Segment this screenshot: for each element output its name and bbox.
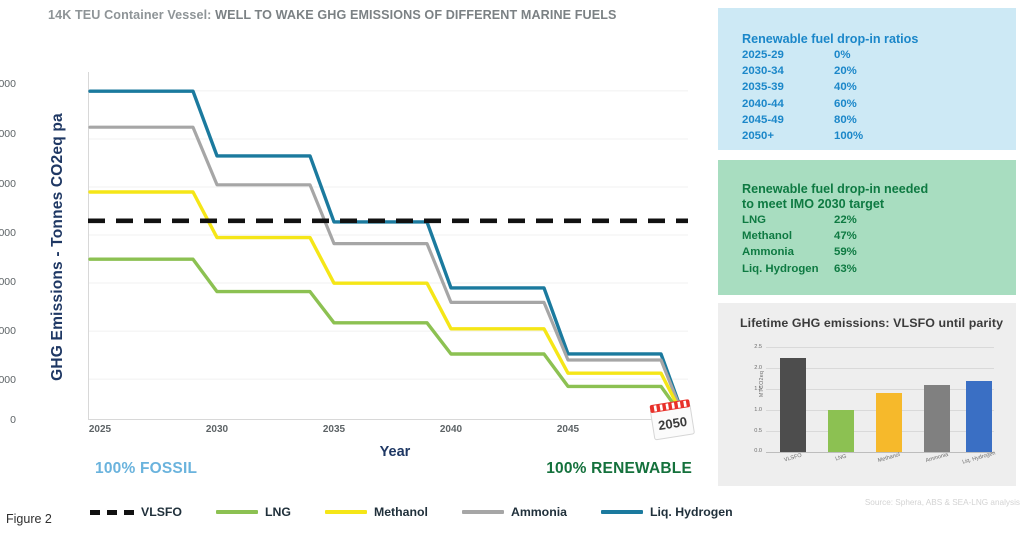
chart-title-prefix: 14K TEU Container Vessel: (48, 8, 215, 22)
legend-item-vlsfo[interactable]: VLSFO (90, 505, 182, 519)
chart-legend: VLSFO LNG Methanol Ammonia Liq. Hydrogen (90, 500, 700, 524)
bar-y-tick-2_0: 2.0 (736, 365, 762, 371)
ratios-value-1: 20% (834, 63, 1016, 79)
target-value-2: 59% (834, 244, 1016, 260)
bar-lng[interactable] (828, 410, 854, 452)
series-liq-hydrogen (90, 91, 685, 420)
plot-area (88, 72, 688, 420)
bar-y-tick-0_0: 0.0 (736, 448, 762, 454)
bar-y-tick-2_5: 2.5 (736, 344, 762, 350)
target-value-0: 22% (834, 212, 1016, 228)
series-ammonia (90, 127, 685, 420)
legend-label-lng: LNG (265, 505, 291, 519)
x-axis-title: Year (340, 444, 450, 460)
legend-swatch-lng-icon (216, 510, 258, 514)
chart-title: 14K TEU Container Vessel: WELL TO WAKE G… (48, 8, 688, 22)
ratios-key-1: 2030-34 (742, 63, 834, 79)
figure-root: 14K TEU Container Vessel: WELL TO WAKE G… (0, 0, 1024, 536)
table-row: Ammonia 59% (742, 244, 1016, 260)
bar-methanol[interactable] (876, 393, 902, 452)
legend-swatch-vlsfo-icon (90, 510, 134, 515)
target-value-3: 63% (834, 261, 1016, 277)
legend-swatch-methanol-icon (325, 510, 367, 514)
x-tick-2040: 2040 (416, 424, 486, 435)
ratios-key-5: 2050+ (742, 128, 834, 144)
bar-liq-hydrogen[interactable] (966, 381, 992, 452)
target-key-2: Ammonia (742, 244, 834, 260)
side-panels: Renewable fuel drop-in ratios 2025-29 0%… (710, 0, 1024, 536)
table-row: 2025-29 0% (742, 47, 1016, 63)
y-tick-0: 0 (0, 414, 16, 426)
ratios-value-3: 60% (834, 96, 1016, 112)
y-tick-140000: 140,000 (0, 78, 16, 90)
figure-label: Figure 2 (6, 512, 52, 526)
target-value-1: 47% (834, 228, 1016, 244)
y-axis-title: GHG Emissions - Tonnes CO2eq pa (49, 97, 67, 397)
plot-svg (88, 72, 688, 420)
card-drop-in-needed-imo-2030: Renewable fuel drop-in needed to meet IM… (718, 160, 1016, 295)
table-row: Liq. Hydrogen 63% (742, 261, 1016, 277)
target-key-3: Liq. Hydrogen (742, 261, 834, 277)
gridlines (88, 91, 688, 379)
y-tick-100000: 100,000 (0, 178, 16, 190)
main-chart-panel: 14K TEU Container Vessel: WELL TO WAKE G… (0, 0, 710, 536)
bar-y-tick-1_5: 1.5 (736, 386, 762, 392)
y-tick-40000: 40,000 (0, 325, 16, 337)
legend-swatch-liq-hydrogen-icon (601, 510, 643, 514)
y-tick-20000: 20,000 (0, 374, 16, 386)
table-row: 2045-49 80% (742, 112, 1016, 128)
calendar-2050-icon: 2050 (648, 398, 695, 441)
renewable-annotation: 100% RENEWABLE (546, 460, 692, 478)
target-heading-line1: Renewable fuel drop-in needed (742, 182, 1016, 197)
x-tick-2025: 2025 (65, 424, 135, 435)
x-tick-2035: 2035 (299, 424, 369, 435)
x-tick-2045: 2045 (533, 424, 603, 435)
legend-label-methanol: Methanol (374, 505, 428, 519)
ratios-key-2: 2035-39 (742, 79, 834, 95)
ratios-table: 2025-29 0% 2030-34 20% 2035-39 40% 204 (742, 47, 1016, 144)
table-row: 2050+ 100% (742, 128, 1016, 144)
bar-ammonia[interactable] (924, 385, 950, 452)
legend-item-ammonia[interactable]: Ammonia (462, 505, 567, 519)
ratios-value-2: 40% (834, 79, 1016, 95)
chart-title-main: WELL TO WAKE GHG EMISSIONS OF DIFFERENT … (215, 8, 616, 22)
table-row: LNG 22% (742, 212, 1016, 228)
table-row: 2035-39 40% (742, 79, 1016, 95)
ratios-heading: Renewable fuel drop-in ratios (742, 32, 1016, 47)
x-tick-2030: 2030 (182, 424, 252, 435)
bar-y-tick-0_5: 0.5 (736, 428, 762, 434)
ratios-key-4: 2045-49 (742, 112, 834, 128)
legend-item-methanol[interactable]: Methanol (325, 505, 428, 519)
target-heading-line2: to meet IMO 2030 target (742, 197, 1016, 212)
ratios-value-4: 80% (834, 112, 1016, 128)
y-tick-80000: 80,000 (0, 227, 16, 239)
table-row: 2030-34 20% (742, 63, 1016, 79)
bar-y-tick-1_0: 1.0 (736, 407, 762, 413)
legend-label-ammonia: Ammonia (511, 505, 567, 519)
bar-chart-title: Lifetime GHG emissions: VLSFO until pari… (740, 316, 1003, 330)
card-renewable-drop-in-ratios: Renewable fuel drop-in ratios 2025-29 0%… (718, 8, 1016, 150)
y-tick-60000: 60,000 (0, 276, 16, 288)
table-row: Methanol 47% (742, 228, 1016, 244)
bar-gridline-2_5 (766, 347, 994, 348)
target-table: LNG 22% Methanol 47% Ammonia 59% Liq. (742, 212, 1016, 277)
y-tick-120000: 120,000 (0, 128, 16, 140)
card-lifetime-ghg-barchart: Lifetime GHG emissions: VLSFO until pari… (718, 303, 1016, 486)
target-key-1: Methanol (742, 228, 834, 244)
ratios-value-5: 100% (834, 128, 1016, 144)
legend-item-lng[interactable]: LNG (216, 505, 291, 519)
ratios-value-0: 0% (834, 47, 1016, 63)
source-note: Source: Sphera, ABS & SEA-LNG analysis (834, 498, 1020, 507)
bar-vlsfo[interactable] (780, 358, 806, 453)
ratios-key-3: 2040-44 (742, 96, 834, 112)
fossil-annotation: 100% FOSSIL (95, 460, 197, 478)
bar-chart-plot-area: MTCO2eq 2.5 2.0 1.5 1.0 0.5 0.0 (766, 347, 994, 452)
target-key-0: LNG (742, 212, 834, 228)
ratios-key-0: 2025-29 (742, 47, 834, 63)
legend-swatch-ammonia-icon (462, 510, 504, 514)
bar-chart-y-axis-label: MTCO2eq (759, 354, 765, 414)
legend-label-vlsfo: VLSFO (141, 505, 182, 519)
table-row: 2040-44 60% (742, 96, 1016, 112)
